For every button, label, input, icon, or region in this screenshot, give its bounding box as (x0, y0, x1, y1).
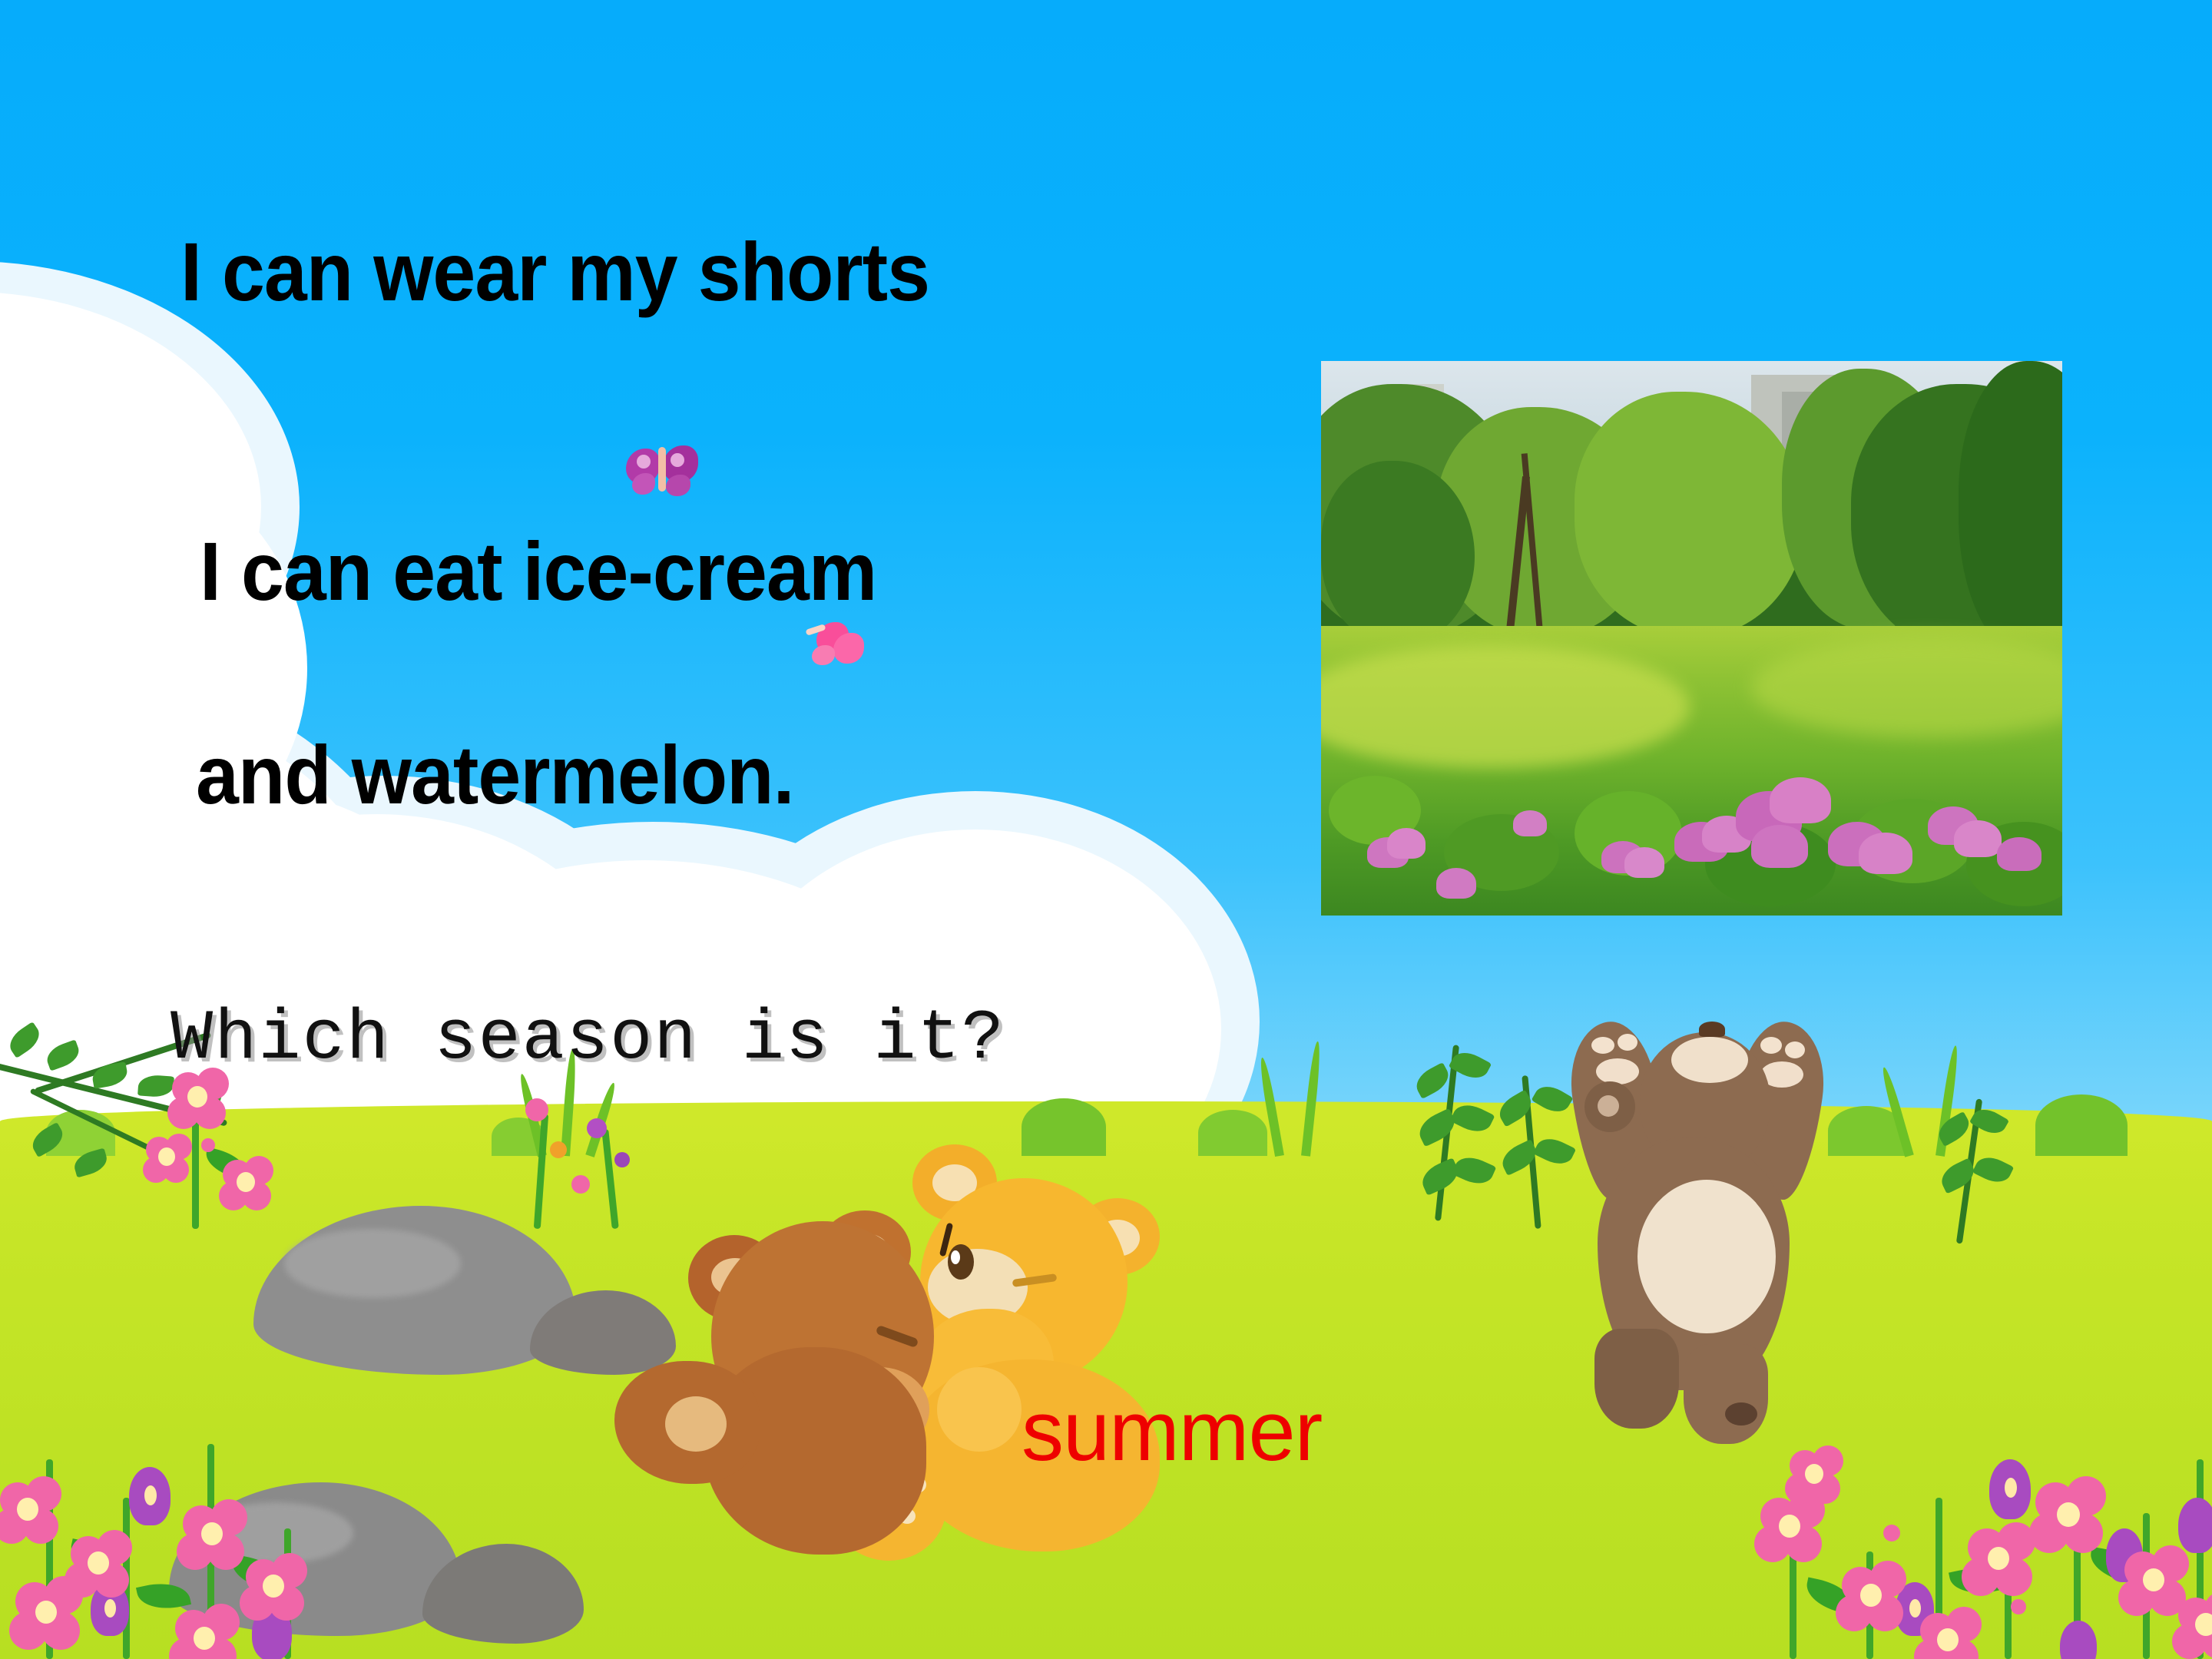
teddy-bear-group (637, 1137, 1175, 1575)
slide-canvas: I can wear my shorts I can eat ice-cream… (0, 0, 2212, 1659)
butterfly-icon (626, 445, 703, 507)
answer-text: summer (1022, 1382, 1322, 1480)
butterfly-icon (810, 622, 872, 676)
headline-line-3: and watermelon. (196, 733, 794, 816)
question-text: Which season is it? (171, 998, 1005, 1079)
grass-tuft (2035, 1094, 2128, 1156)
bear-icon (1551, 1022, 1843, 1513)
grass-tuft (1198, 1110, 1267, 1156)
headline-line-2: I can eat ice-cream (200, 530, 876, 613)
garden-photo (1321, 361, 2062, 916)
headline-line-1: I can wear my shorts (180, 230, 929, 313)
